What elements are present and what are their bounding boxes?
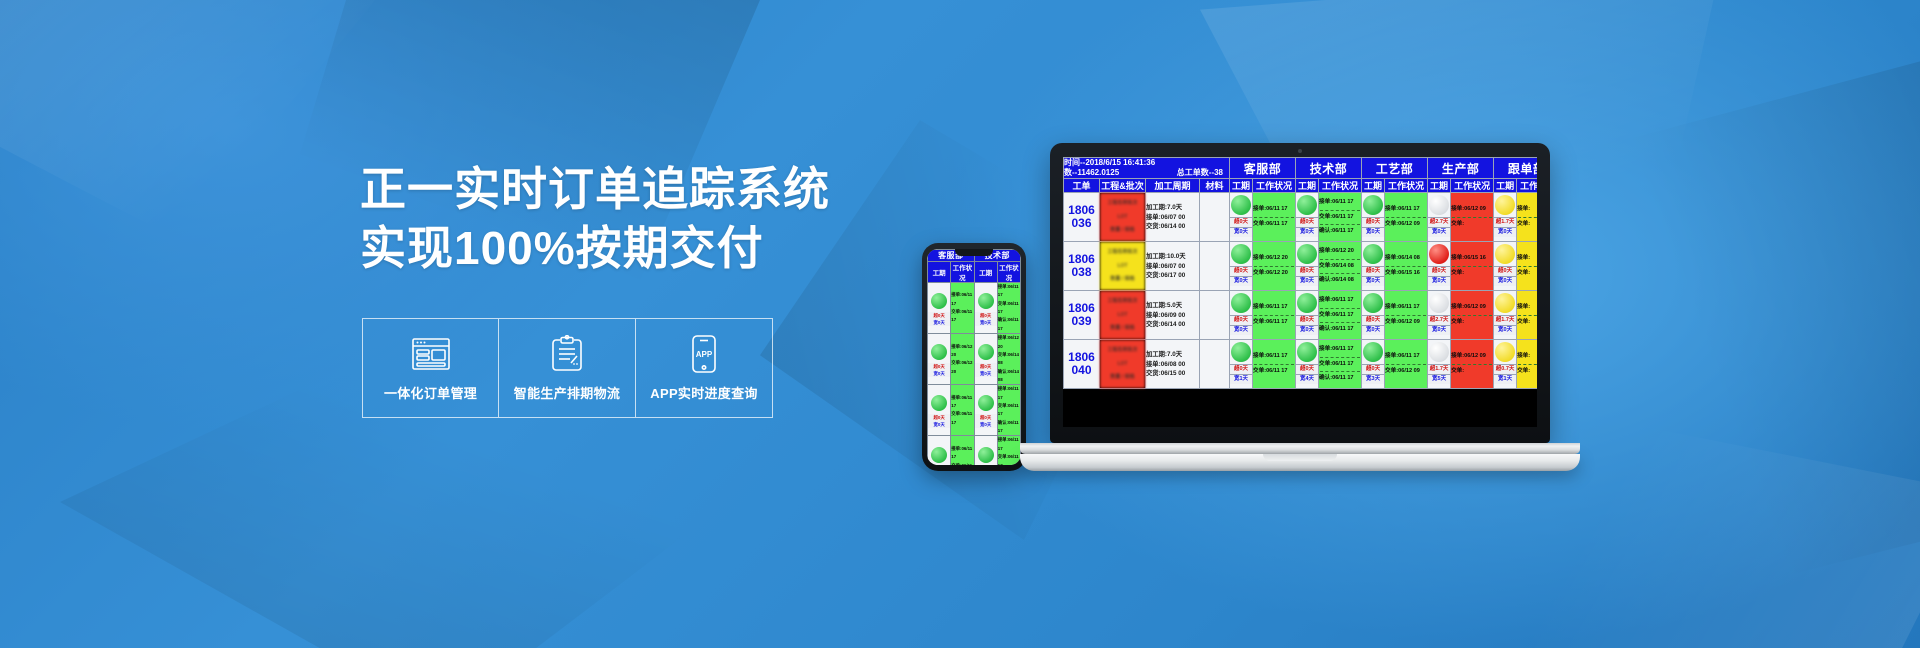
laptop-lid: 时间--2018/6/15 16:41:36数--11462.0125总工单数-… (1050, 143, 1550, 443)
dept-2-duration-cell[interactable]: 超0天宽0天 (1362, 242, 1385, 291)
slack-badge: 宽0天 (928, 370, 950, 377)
laptop-hinge (1020, 443, 1580, 454)
slack-badge: 宽1天 (1230, 374, 1252, 384)
slack-badge: 宽0天 (975, 319, 997, 326)
dept-1-status-cell[interactable]: 接单:06/11 17交单:06/11 17确认:06/11 17 (1319, 291, 1362, 340)
table-meta-header: 时间--2018/6/15 16:41:36数--11462.0125总工单数-… (1064, 158, 1230, 179)
phone-tech-status-cell[interactable]: 接单:06/11 17交单:06/11 17确认:06/11 17 (997, 385, 1020, 436)
slack-badge: 宽0天 (1230, 276, 1252, 286)
dept-2-status-cell[interactable]: 接单:06/11 17交单:06/12 09 (1385, 291, 1428, 340)
dept-3-duration-cell[interactable]: 超1.7天宽5天 (1428, 340, 1451, 389)
dept-4-subheader-1: 工作状况 (1517, 179, 1537, 193)
phone-tech-status-cell[interactable]: 接单:06/11 17交单:06/11 17确认:06/11 17 (997, 283, 1020, 334)
overdue-badge: 超0天 (975, 312, 997, 319)
project-batch-cell: 工程名称批次LOT数量 / 规格 (1100, 242, 1146, 291)
dept-1-subheader-1: 工作状况 (1319, 179, 1362, 193)
status-indicator-icon (931, 293, 947, 309)
table-row[interactable]: 1806036工程名称批次LOT数量 / 规格加工期:7.0天接单:06/07 … (1064, 193, 1538, 242)
phone-cs-status-cell[interactable]: 接单:06/11 17交单:06/11 17 (951, 283, 974, 334)
status-indicator-icon (1429, 293, 1449, 313)
dept-3-duration-cell[interactable]: 超2.7天宽0天 (1428, 193, 1451, 242)
dept-1-status-cell[interactable]: 接单:06/11 17交单:06/11 17确认:06/11 17 (1319, 193, 1362, 242)
dept-0-status-cell[interactable]: 接单:06/11 17交单:06/11 17 (1253, 291, 1296, 340)
slack-badge: 宽1天 (1494, 374, 1516, 384)
phone-table-row[interactable]: 超0天宽0天接单:06/11 17交单:06/11 17超0天宽0天接单:06/… (928, 385, 1021, 436)
slack-badge: 宽0天 (928, 319, 950, 326)
phone-cs-duration-cell[interactable]: 超0天宽0天 (928, 334, 951, 385)
meta-counts: 数--11462.0125总工单数--38 (1064, 168, 1229, 178)
dept-0-status-cell[interactable]: 接单:06/11 17交单:06/11 17 (1253, 340, 1296, 389)
department-header-3: 生产部 (1428, 158, 1494, 179)
phone-tech-status-cell[interactable]: 接单:06/11 17交单:06/11 17确认:06/11 17 (997, 436, 1020, 465)
status-indicator-icon (1363, 342, 1383, 362)
order-number-cell: 1806040 (1064, 340, 1100, 389)
slack-badge: 宽3天 (1362, 374, 1384, 384)
status-indicator-icon (1495, 293, 1515, 313)
slack-badge: 宽0天 (1428, 325, 1450, 335)
status-indicator-icon (1495, 244, 1515, 264)
status-indicator-icon (1429, 342, 1449, 362)
dept-4-status-cell[interactable]: 接单:交单: (1517, 340, 1537, 389)
column-header-2: 加工周期 (1146, 179, 1200, 193)
device-mockups: 客服部技术部工期工作状况工期工作状况超0天宽0天接单:06/11 17交单:06… (0, 0, 1920, 648)
status-indicator-icon (931, 447, 947, 463)
slack-badge: 宽0天 (1428, 227, 1450, 237)
phone-cs-duration-cell[interactable]: 超0天宽1天 (928, 436, 951, 465)
status-indicator-icon (931, 344, 947, 360)
processing-period-cell: 加工期:5.0天接单:06/09 00交货:06/14 00 (1146, 291, 1200, 340)
status-indicator-icon (978, 395, 994, 411)
order-number-cell: 1806039 (1064, 291, 1100, 340)
slack-badge: 宽0天 (975, 370, 997, 377)
dept-0-status-cell[interactable]: 接单:06/11 17交单:06/11 17 (1253, 193, 1296, 242)
phone-mockup: 客服部技术部工期工作状况工期工作状况超0天宽0天接单:06/11 17交单:06… (922, 243, 1026, 471)
phone-cs-duration-cell[interactable]: 超0天宽0天 (928, 283, 951, 334)
dept-0-duration-cell[interactable]: 超0天宽0天 (1230, 242, 1253, 291)
overdue-badge: 超1.7天 (1428, 364, 1450, 374)
dept-1-subheader-0: 工期 (1296, 179, 1319, 193)
dept-1-status-cell[interactable]: 接单:06/11 17交单:06/11 17确认:06/11 17 (1319, 340, 1362, 389)
dept-3-status-cell[interactable]: 接单:06/12 09交单: (1451, 291, 1494, 340)
slack-badge: 宽0天 (1362, 276, 1384, 286)
phone-dept-1-subheader-1: 工作状况 (997, 262, 1020, 283)
slack-badge: 宽5天 (1428, 374, 1450, 384)
material-cell (1200, 340, 1230, 389)
slack-badge: 宽0天 (1230, 227, 1252, 237)
slack-badge: 宽0天 (1296, 276, 1318, 286)
status-indicator-icon (1231, 244, 1251, 264)
dept-1-duration-cell[interactable]: 超0天宽4天 (1296, 340, 1319, 389)
overdue-badge: 超2.7天 (1428, 315, 1450, 325)
overdue-badge: 超0天 (1362, 315, 1384, 325)
department-header-0: 客服部 (1230, 158, 1296, 179)
phone-dept-1-subheader-0: 工期 (974, 262, 997, 283)
phone-cs-status-cell[interactable]: 接单:06/11 17交单:06/11 17 (951, 436, 974, 465)
overdue-badge: 超0天 (1230, 217, 1252, 227)
phone-tech-status-cell[interactable]: 接单:06/12 20交单:06/14 08确认:06/14 08 (997, 334, 1020, 385)
status-indicator-icon (1363, 293, 1383, 313)
overdue-badge: 超1.7天 (1494, 315, 1516, 325)
slack-badge: 宽0天 (1494, 276, 1516, 286)
status-indicator-icon (978, 293, 994, 309)
laptop-trackpad-notch (1263, 454, 1337, 461)
dept-2-duration-cell[interactable]: 超0天宽0天 (1362, 291, 1385, 340)
slack-badge: 宽0天 (1494, 325, 1516, 335)
dept-4-duration-cell[interactable]: 超1.7天宽0天 (1494, 291, 1517, 340)
status-indicator-icon (978, 447, 994, 463)
overdue-badge: 超0天 (1296, 217, 1318, 227)
department-header-4: 跟单部 (1494, 158, 1537, 179)
dept-3-duration-cell[interactable]: 超0天宽0天 (1428, 242, 1451, 291)
dept-1-duration-cell[interactable]: 超0天宽0天 (1296, 193, 1319, 242)
dept-1-duration-cell[interactable]: 超0天宽0天 (1296, 242, 1319, 291)
phone-tech-duration-cell[interactable]: 超0天宽4天 (974, 436, 997, 465)
dept-4-status-cell[interactable]: 接单:交单: (1517, 242, 1537, 291)
overdue-badge: 超2.7天 (1428, 217, 1450, 227)
phone-cs-status-cell[interactable]: 接单:06/12 20交单:06/12 20 (951, 334, 974, 385)
dept-4-duration-cell[interactable]: 超0.7天宽1天 (1494, 340, 1517, 389)
project-batch-cell: 工程名称批次LOT数量 / 规格 (1100, 193, 1146, 242)
overdue-badge: 超0天 (1230, 266, 1252, 276)
phone-dept-0-subheader-1: 工作状况 (951, 262, 974, 283)
dept-2-status-cell[interactable]: 接单:06/11 17交单:06/12 09 (1385, 340, 1428, 389)
slack-badge: 宽0天 (1296, 325, 1318, 335)
overdue-badge: 超0天 (1362, 217, 1384, 227)
processing-period-cell: 加工期:7.0天接单:06/08 00交货:06/15 00 (1146, 340, 1200, 389)
overdue-badge: 超0天 (1230, 364, 1252, 374)
status-indicator-icon (1231, 195, 1251, 215)
status-indicator-icon (1495, 342, 1515, 362)
overdue-badge: 超0天 (928, 414, 950, 421)
table-row[interactable]: 1806040工程名称批次LOT数量 / 规格加工期:7.0天接单:06/08 … (1064, 340, 1538, 389)
overdue-badge: 超0天 (1428, 266, 1450, 276)
column-header-1: 工程&批次 (1100, 179, 1146, 193)
dept-3-duration-cell[interactable]: 超2.7天宽0天 (1428, 291, 1451, 340)
processing-period-cell: 加工期:7.0天接单:06/07 00交货:06/14 00 (1146, 193, 1200, 242)
status-indicator-icon (1231, 342, 1251, 362)
order-tracking-table: 时间--2018/6/15 16:41:36数--11462.0125总工单数-… (1063, 157, 1537, 389)
phone-cs-duration-cell[interactable]: 超0天宽0天 (928, 385, 951, 436)
slack-badge: 宽0天 (1296, 227, 1318, 237)
dept-3-status-cell[interactable]: 接单:06/12 09交单: (1451, 340, 1494, 389)
status-indicator-icon (1429, 244, 1449, 264)
dept-3-subheader-0: 工期 (1428, 179, 1451, 193)
dept-4-status-cell[interactable]: 接单:交单: (1517, 193, 1537, 242)
phone-cs-status-cell[interactable]: 接单:06/11 17交单:06/11 17 (951, 385, 974, 436)
status-indicator-icon (1429, 195, 1449, 215)
overdue-badge: 超0天 (1362, 266, 1384, 276)
phone-tracking-table: 客服部技术部工期工作状况工期工作状况超0天宽0天接单:06/11 17交单:06… (927, 249, 1021, 465)
status-indicator-icon (1495, 195, 1515, 215)
phone-tech-duration-cell[interactable]: 超0天宽0天 (974, 385, 997, 436)
dept-2-subheader-0: 工期 (1362, 179, 1385, 193)
processing-period-cell: 加工期:10.0天接单:06/07 00交货:06/17 00 (1146, 242, 1200, 291)
dept-3-status-cell[interactable]: 接单:06/15 16交单: (1451, 242, 1494, 291)
status-indicator-icon (931, 395, 947, 411)
status-indicator-icon (978, 344, 994, 360)
dept-0-status-cell[interactable]: 接单:06/12 20交单:06/12 20 (1253, 242, 1296, 291)
table-row[interactable]: 1806038工程名称批次LOT数量 / 规格加工期:10.0天接单:06/07… (1064, 242, 1538, 291)
phone-tech-duration-cell[interactable]: 超0天宽0天 (974, 283, 997, 334)
dept-0-duration-cell[interactable]: 超0天宽1天 (1230, 340, 1253, 389)
overdue-badge: 超0天 (1296, 315, 1318, 325)
dept-3-subheader-1: 工作状况 (1451, 179, 1494, 193)
project-batch-cell: 工程名称批次LOT数量 / 规格 (1100, 340, 1146, 389)
column-header-3: 材料 (1200, 179, 1230, 193)
dept-2-status-cell[interactable]: 接单:06/14 08交单:06/15 16 (1385, 242, 1428, 291)
webcam-icon (1298, 149, 1302, 153)
status-indicator-icon (1297, 342, 1317, 362)
slack-badge: 宽0天 (1362, 227, 1384, 237)
dept-2-duration-cell[interactable]: 超0天宽0天 (1362, 193, 1385, 242)
phone-table-row[interactable]: 超0天宽1天接单:06/11 17交单:06/11 17超0天宽4天接单:06/… (928, 436, 1021, 465)
column-header-0: 工单 (1064, 179, 1100, 193)
project-batch-cell: 工程名称批次LOT数量 / 规格 (1100, 291, 1146, 340)
dept-1-status-cell[interactable]: 接单:06/12 20交单:06/14 08确认:06/14 08 (1319, 242, 1362, 291)
overdue-badge: 超0天 (975, 363, 997, 370)
dept-1-duration-cell[interactable]: 超0天宽0天 (1296, 291, 1319, 340)
phone-body: 客服部技术部工期工作状况工期工作状况超0天宽0天接单:06/11 17交单:06… (922, 243, 1026, 471)
phone-dept-0-subheader-0: 工期 (928, 262, 951, 283)
dept-0-duration-cell[interactable]: 超0天宽0天 (1230, 193, 1253, 242)
phone-screen[interactable]: 客服部技术部工期工作状况工期工作状况超0天宽0天接单:06/11 17交单:06… (927, 249, 1021, 465)
slack-badge: 宽0天 (1428, 276, 1450, 286)
dept-0-subheader-1: 工作状况 (1253, 179, 1296, 193)
dept-4-duration-cell[interactable]: 超0天宽0天 (1494, 242, 1517, 291)
slack-badge: 宽0天 (1362, 325, 1384, 335)
overdue-badge: 超0天 (1230, 315, 1252, 325)
material-cell (1200, 291, 1230, 340)
material-cell (1200, 242, 1230, 291)
dept-4-duration-cell[interactable]: 超1.7天宽0天 (1494, 193, 1517, 242)
slack-badge: 宽0天 (975, 421, 997, 428)
dept-2-duration-cell[interactable]: 超0天宽3天 (1362, 340, 1385, 389)
overdue-badge: 超0天 (1296, 364, 1318, 374)
department-header-2: 工艺部 (1362, 158, 1428, 179)
order-number-cell: 1806038 (1064, 242, 1100, 291)
overdue-badge: 超0天 (975, 414, 997, 421)
material-cell (1200, 193, 1230, 242)
status-indicator-icon (1363, 195, 1383, 215)
status-indicator-icon (1363, 244, 1383, 264)
slack-badge: 宽0天 (928, 421, 950, 428)
overdue-badge: 超0天 (1362, 364, 1384, 374)
laptop-mockup: 时间--2018/6/15 16:41:36数--11462.0125总工单数-… (1020, 143, 1580, 471)
overdue-badge: 超0天 (928, 312, 950, 319)
slack-badge: 宽0天 (1230, 325, 1252, 335)
phone-table-row[interactable]: 超0天宽0天接单:06/12 20交单:06/12 20超0天宽0天接单:06/… (928, 334, 1021, 385)
phone-tech-duration-cell[interactable]: 超0天宽0天 (974, 334, 997, 385)
dept-0-duration-cell[interactable]: 超0天宽0天 (1230, 291, 1253, 340)
status-indicator-icon (1231, 293, 1251, 313)
table-row[interactable]: 1806039工程名称批次LOT数量 / 规格加工期:5.0天接单:06/09 … (1064, 291, 1538, 340)
dept-3-status-cell[interactable]: 接单:06/12 09交单: (1451, 193, 1494, 242)
overdue-badge: 超0天 (1296, 266, 1318, 276)
phone-notch (955, 249, 993, 256)
status-indicator-icon (1297, 195, 1317, 215)
overdue-badge: 超1.7天 (1494, 217, 1516, 227)
laptop-base (1020, 454, 1580, 471)
overdue-badge: 超0天 (1494, 266, 1516, 276)
overdue-badge: 超0.7天 (1494, 364, 1516, 374)
department-header-1: 技术部 (1296, 158, 1362, 179)
laptop-screen[interactable]: 时间--2018/6/15 16:41:36数--11462.0125总工单数-… (1063, 157, 1537, 427)
overdue-badge: 超0天 (928, 363, 950, 370)
order-number-cell: 1806036 (1064, 193, 1100, 242)
dept-4-status-cell[interactable]: 接单:交单: (1517, 291, 1537, 340)
phone-table-row[interactable]: 超0天宽0天接单:06/11 17交单:06/11 17超0天宽0天接单:06/… (928, 283, 1021, 334)
dept-0-subheader-0: 工期 (1230, 179, 1253, 193)
meta-time: 时间--2018/6/15 16:41:36 (1064, 158, 1229, 168)
status-indicator-icon (1297, 244, 1317, 264)
slack-badge: 宽0天 (1494, 227, 1516, 237)
dept-2-subheader-1: 工作状况 (1385, 179, 1428, 193)
dept-4-subheader-0: 工期 (1494, 179, 1517, 193)
slack-badge: 宽4天 (1296, 374, 1318, 384)
dept-2-status-cell[interactable]: 接单:06/11 17交单:06/12 09 (1385, 193, 1428, 242)
status-indicator-icon (1297, 293, 1317, 313)
